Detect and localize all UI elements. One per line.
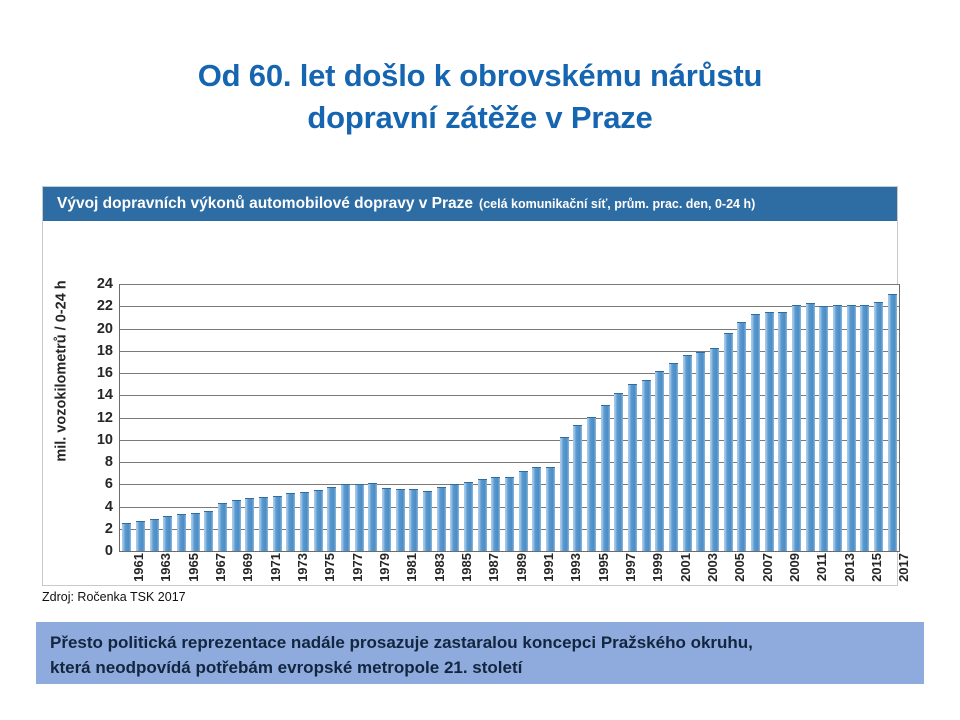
x-axis-tick-1965: 1965	[186, 553, 201, 582]
bar-2002	[683, 355, 692, 551]
bar-1972	[273, 496, 282, 552]
bottom-banner-line-1: Přesto politická reprezentace nadále pro…	[50, 631, 910, 656]
y-axis-tick-14: 14	[97, 387, 113, 403]
y-axis-tick-24: 24	[97, 276, 113, 292]
bar-1999	[642, 380, 651, 551]
x-axis-tick-1999: 1999	[650, 553, 665, 582]
bar-2001	[669, 363, 678, 551]
bar-1982	[409, 489, 418, 551]
y-axis-tick-12: 12	[97, 410, 113, 426]
bar-1995	[587, 417, 596, 552]
bar-1978	[355, 484, 364, 551]
y-axis-tick-20: 20	[97, 321, 113, 337]
bar-1998	[628, 384, 637, 551]
x-axis-tick-1985: 1985	[459, 553, 474, 582]
bar-1990	[519, 471, 528, 551]
bar-2015	[860, 305, 869, 551]
chart-title: Vývoj dopravních výkonů automobilové dop…	[57, 195, 473, 213]
bottom-banner: Přesto politická reprezentace nadále pro…	[36, 622, 924, 684]
x-axis-tick-2001: 2001	[678, 553, 693, 582]
x-axis-tick-1977: 1977	[350, 553, 365, 582]
x-axis-tick-labels: 1961196319651967196919711973197519771979…	[119, 553, 898, 611]
x-axis-tick-1983: 1983	[432, 553, 447, 582]
bar-1992	[546, 467, 555, 551]
bar-1966	[191, 513, 200, 551]
bar-2010	[792, 305, 801, 551]
x-axis-tick-1979: 1979	[377, 553, 392, 582]
x-axis-tick-1991: 1991	[541, 553, 556, 582]
bar-2007	[751, 314, 760, 551]
x-axis-tick-2015: 2015	[869, 553, 884, 582]
x-axis-tick-1969: 1969	[240, 553, 255, 582]
bar-2000	[655, 371, 664, 551]
x-axis-tick-1997: 1997	[623, 553, 638, 582]
bar-1970	[245, 498, 254, 551]
bar-2013	[833, 305, 842, 551]
x-axis-tick-2009: 2009	[787, 553, 802, 582]
y-axis-tick-8: 8	[105, 454, 113, 470]
bar-1977	[341, 484, 350, 551]
bar-1991	[532, 467, 541, 551]
x-axis-tick-2011: 2011	[814, 553, 829, 581]
bar-1994	[573, 425, 582, 551]
chart-subtitle: (celá komunikační síť, prům. prac. den, …	[479, 197, 755, 211]
bar-2009	[778, 312, 787, 551]
bar-1984	[437, 487, 446, 551]
bar-1983	[423, 491, 432, 551]
bar-2005	[724, 333, 733, 551]
bar-1975	[314, 490, 323, 551]
plot-area-wrapper: mil. vozokilometrů / 0-24 h 242220181614…	[43, 221, 897, 585]
source-note: Zdroj: Ročenka TSK 2017	[42, 590, 186, 604]
x-axis-tick-1995: 1995	[596, 553, 611, 582]
bar-series	[120, 284, 899, 551]
bar-1986	[464, 482, 473, 551]
x-axis-tick-1961: 1961	[131, 553, 146, 582]
x-axis-tick-2003: 2003	[705, 553, 720, 582]
bottom-banner-line-2: která neodpovídá potřebám evropské metro…	[50, 656, 910, 681]
bar-2016	[874, 302, 883, 551]
x-axis-tick-1987: 1987	[486, 553, 501, 582]
page-title-line-1: Od 60. let došlo k obrovskému nárůstu	[80, 55, 880, 97]
bar-1996	[601, 405, 610, 551]
chart-header-bar: Vývoj dopravních výkonů automobilové dop…	[43, 187, 897, 221]
y-axis-tick-6: 6	[105, 476, 113, 492]
bar-1974	[300, 492, 309, 551]
x-axis-tick-1981: 1981	[404, 553, 419, 582]
y-axis-tick-22: 22	[97, 298, 113, 314]
bar-1997	[614, 393, 623, 551]
bar-1981	[396, 489, 405, 551]
plot-area	[119, 284, 900, 552]
bar-1980	[382, 488, 391, 551]
y-axis-title: mil. vozokilometrů / 0-24 h	[49, 221, 75, 521]
y-axis-tick-16: 16	[97, 365, 113, 381]
bar-1965	[177, 514, 186, 551]
bar-1979	[368, 483, 377, 551]
bar-1988	[491, 477, 500, 551]
y-axis-tick-0: 0	[105, 543, 113, 559]
x-axis-tick-2005: 2005	[732, 553, 747, 582]
bar-1987	[478, 479, 487, 551]
x-axis-tick-1971: 1971	[268, 553, 283, 582]
bar-1967	[204, 511, 213, 551]
bar-2017	[888, 294, 897, 551]
y-axis-tick-labels: 242220181614121086420	[77, 284, 117, 551]
bar-1976	[327, 487, 336, 551]
bar-1971	[259, 497, 268, 551]
bar-1968	[218, 503, 227, 551]
bar-1985	[450, 484, 459, 551]
bar-2006	[737, 322, 746, 551]
bar-2011	[806, 303, 815, 551]
y-axis-tick-4: 4	[105, 499, 113, 515]
x-axis-tick-1975: 1975	[322, 553, 337, 582]
x-axis-tick-2013: 2013	[842, 553, 857, 582]
y-axis-tick-10: 10	[97, 432, 113, 448]
x-axis-tick-2007: 2007	[760, 553, 775, 582]
bar-2003	[696, 352, 705, 551]
x-axis-tick-1963: 1963	[158, 553, 173, 582]
x-axis-tick-1989: 1989	[514, 553, 529, 582]
page-title-line-2: dopravní zátěže v Praze	[80, 97, 880, 139]
bar-1962	[136, 521, 145, 551]
bar-1961	[122, 523, 131, 551]
x-axis-tick-2017: 2017	[896, 553, 911, 582]
bar-1989	[505, 477, 514, 551]
bar-2008	[765, 312, 774, 551]
y-axis-tick-18: 18	[97, 343, 113, 359]
x-axis-tick-1967: 1967	[213, 553, 228, 582]
bar-2012	[819, 306, 828, 551]
bar-1964	[163, 516, 172, 551]
bar-1963	[150, 519, 159, 551]
bar-1993	[560, 437, 569, 551]
bar-1969	[232, 500, 241, 551]
page-title: Od 60. let došlo k obrovskému nárůstu do…	[80, 55, 880, 139]
y-axis-title-text: mil. vozokilometrů / 0-24 h	[54, 280, 70, 461]
x-axis-tick-1973: 1973	[295, 553, 310, 582]
bar-1973	[286, 493, 295, 551]
bar-2004	[710, 348, 719, 551]
x-axis-tick-1993: 1993	[568, 553, 583, 582]
y-axis-tick-2: 2	[105, 521, 113, 537]
bar-2014	[847, 305, 856, 551]
chart-card: Vývoj dopravních výkonů automobilové dop…	[42, 186, 898, 586]
